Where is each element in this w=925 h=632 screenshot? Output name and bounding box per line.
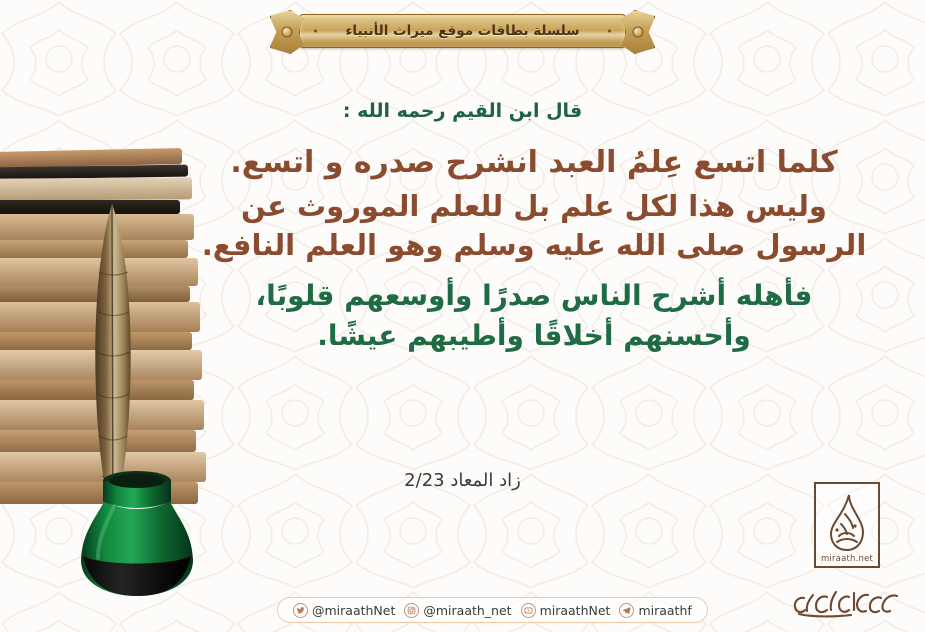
social-links-bar: @miraathNet @miraath_net miraathNet (277, 597, 708, 623)
green-glass-inkwell (68, 468, 206, 598)
banner-frame: سلسلة بطاقات موقع ميراث الأنبياء (299, 14, 627, 48)
quote-body: كلما اتسع عِلمُ العبد انشرح صدره و اتسع.… (189, 148, 879, 350)
quote-attribution: قال ابن القيم رحمه الله : (0, 100, 925, 122)
social-link-youtube[interactable]: miraathNet (521, 603, 611, 618)
social-label-youtube: miraathNet (540, 603, 611, 618)
islamic-quote-card: سلسلة بطاقات موقع ميراث الأنبياء قال ابن… (0, 0, 925, 632)
quote-line-5: وأحسنهم أخلاقًا وأطيبهم عيشًا. (189, 322, 879, 350)
banner-title: سلسلة بطاقات موقع ميراث الأنبياء (346, 23, 580, 39)
banner-ornament-right (621, 10, 655, 54)
logo-url-text: miraath.net (821, 554, 873, 564)
quote-line-4: فأهله أشرح الناس صدرًا وأوسعهم قلوبًا، (189, 282, 879, 310)
miraath-logo[interactable]: miraath.net (814, 482, 880, 568)
youtube-icon (521, 603, 536, 618)
banner-ornament-eye-right (633, 27, 644, 38)
social-link-twitter[interactable]: @miraathNet (293, 603, 395, 618)
book-edge (0, 177, 192, 200)
social-link-telegram[interactable]: miraathf (619, 603, 691, 618)
quote-line-3: الرسول صلى الله عليه وسلم وهو العلم النا… (189, 231, 879, 260)
quote-line-2: وليس هذا لكل علم بل للعلم الموروث عن (189, 192, 879, 221)
top-banner: سلسلة بطاقات موقع ميراث الأنبياء (0, 14, 925, 48)
social-label-telegram: miraathf (638, 603, 691, 618)
social-link-instagram[interactable]: @miraath_net (404, 603, 511, 618)
miraath-arabic-wordmark (791, 586, 903, 620)
book-stack-illustration (0, 150, 250, 632)
miraath-calligraphy-icon (824, 492, 870, 554)
social-label-instagram: @miraath_net (423, 603, 511, 618)
banner-ornament-eye-left (281, 27, 292, 38)
quote-line-1: كلما اتسع عِلمُ العبد انشرح صدره و اتسع. (189, 148, 879, 178)
telegram-icon (619, 603, 634, 618)
social-label-twitter: @miraathNet (312, 603, 395, 618)
twitter-icon (293, 603, 308, 618)
instagram-icon (404, 603, 419, 618)
banner-ornament-left (270, 10, 304, 54)
